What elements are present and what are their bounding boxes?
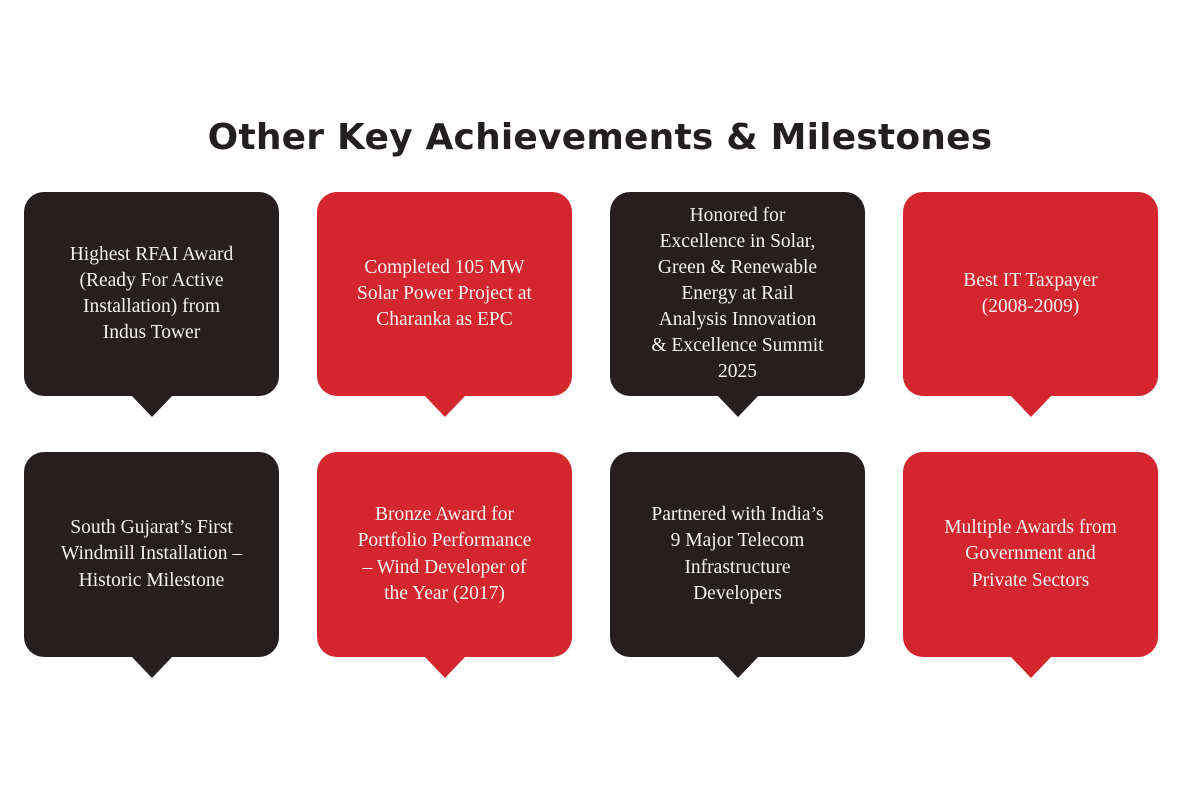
card-body[interactable]: Bronze Award for Portfolio Performance –… xyxy=(317,452,572,657)
infographic-canvas: Other Key Achievements & Milestones High… xyxy=(0,0,1200,800)
card-text: Partnered with India’s 9 Major Telecom I… xyxy=(622,502,853,607)
card-text: Multiple Awards from Government and Priv… xyxy=(915,515,1146,593)
achievement-card-partnered-with-india-9-major-telecom[interactable]: Partnered with India’s 9 Major Telecom I… xyxy=(610,452,865,657)
card-body[interactable]: Multiple Awards from Government and Priv… xyxy=(903,452,1158,657)
callout-tail-icon xyxy=(1010,656,1052,678)
achievement-card-bronze-award-portfolio-performance[interactable]: Bronze Award for Portfolio Performance –… xyxy=(317,452,572,657)
card-text: Honored for Excellence in Solar, Green &… xyxy=(622,203,853,386)
callout-tail-icon xyxy=(424,395,466,417)
card-text: Best IT Taxpayer (2008-2009) xyxy=(915,268,1146,320)
card-body[interactable]: Honored for Excellence in Solar, Green &… xyxy=(610,192,865,396)
card-body[interactable]: Completed 105 MW Solar Power Project at … xyxy=(317,192,572,396)
achievement-card-south-gujarat-first-windmill-installation[interactable]: South Gujarat’s First Windmill Installat… xyxy=(24,452,279,657)
callout-tail-icon xyxy=(1010,395,1052,417)
callout-tail-icon xyxy=(424,656,466,678)
card-text: South Gujarat’s First Windmill Installat… xyxy=(36,515,267,593)
callout-tail-icon xyxy=(131,656,173,678)
callout-tail-icon xyxy=(131,395,173,417)
card-text: Bronze Award for Portfolio Performance –… xyxy=(329,502,560,607)
achievement-card-completed-105-mw-solar-power-project[interactable]: Completed 105 MW Solar Power Project at … xyxy=(317,192,572,396)
achievement-card-best-it-taxpayer[interactable]: Best IT Taxpayer (2008-2009) xyxy=(903,192,1158,396)
card-text: Highest RFAI Award (Ready For Active Ins… xyxy=(36,242,267,347)
page-title: Other Key Achievements & Milestones xyxy=(0,118,1200,158)
card-body[interactable]: Partnered with India’s 9 Major Telecom I… xyxy=(610,452,865,657)
card-text: Completed 105 MW Solar Power Project at … xyxy=(329,255,560,333)
callout-tail-icon xyxy=(717,395,759,417)
achievements-grid: Highest RFAI Award (Ready For Active Ins… xyxy=(24,192,1165,657)
achievement-card-honored-for-excellence-in-solar[interactable]: Honored for Excellence in Solar, Green &… xyxy=(610,192,865,396)
card-body[interactable]: Highest RFAI Award (Ready For Active Ins… xyxy=(24,192,279,396)
card-body[interactable]: South Gujarat’s First Windmill Installat… xyxy=(24,452,279,657)
callout-tail-icon xyxy=(717,656,759,678)
achievement-card-highest-rfai-award[interactable]: Highest RFAI Award (Ready For Active Ins… xyxy=(24,192,279,396)
card-body[interactable]: Best IT Taxpayer (2008-2009) xyxy=(903,192,1158,396)
achievement-card-multiple-awards-government-private[interactable]: Multiple Awards from Government and Priv… xyxy=(903,452,1158,657)
